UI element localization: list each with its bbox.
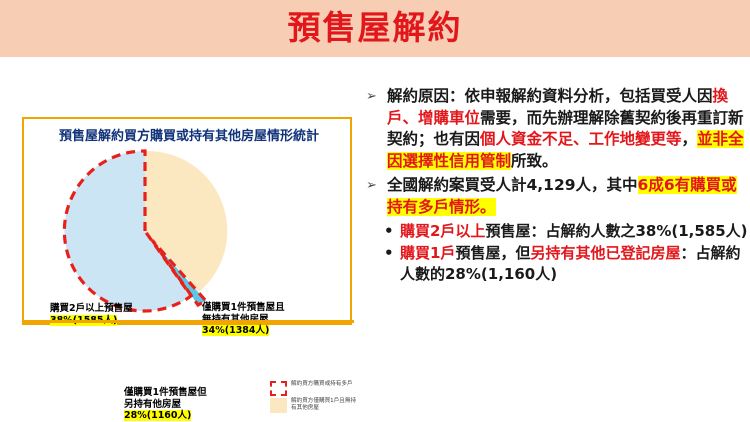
bullet-nationwide-text: 全國解約案買受人計4,129人，其中6成6有購買或持有多戶情形。	[387, 176, 737, 216]
sub-bullet-two-or-more: • 購買2戶以上預售屋：占解約人數之38%(1,585人)	[366, 221, 750, 242]
chart-panel: 預售屋解約買方購買或持有其他房屋情形統計 購買2戶以上預售屋	[22, 117, 352, 325]
red-dashed-swatch-icon	[270, 381, 287, 396]
text-run: 個人資金不足、工作地變更等	[480, 130, 682, 148]
bullet-arrow-icon: ➢	[366, 175, 377, 197]
text-run: 全國解約案買受人計4,129人，其中	[387, 176, 638, 194]
legend-item-single-label: 解約買方僅購買1戶且無持有其他房屋	[291, 398, 358, 412]
cream-swatch-icon	[270, 398, 287, 413]
sub-bullet-one-plus-other: • 購買1戶預售屋，但另持有其他已登記房屋：占解約人數的28%(1,160人)	[366, 243, 750, 285]
slide-root: 預售屋解約 預售屋解約買方購買或持有其他房屋情形統計	[0, 0, 750, 422]
bullet-arrow-icon: ➢	[366, 86, 377, 108]
pie-label-28-name-line1: 僅購買1件預售屋但	[124, 387, 207, 399]
text-run: 另持有其他已登記房屋	[530, 244, 680, 262]
bullet-reason: ➢ 解約原因：依申報解約資料分析，包括買受人因換戶、增購車位需要，而先辦理解除舊…	[366, 86, 750, 172]
text-run: 購買2戶以上	[400, 222, 485, 240]
bullet-reason-text: 解約原因：依申報解約資料分析，包括買受人因換戶、增購車位需要，而先辦理解除舊契約…	[387, 87, 744, 170]
pie-label-28: 僅購買1件預售屋但 另持有他房屋 28%(1160人)	[124, 387, 207, 422]
pie-label-28-value: 28%(1160人)	[124, 410, 191, 421]
text-run: 預售屋：占解約人數之38%(1,585人)	[485, 222, 747, 240]
pie-chart	[52, 145, 237, 323]
text-run: 購買1戶	[400, 244, 455, 262]
sub-bullet-two-or-more-text: 購買2戶以上預售屋：占解約人數之38%(1,585人)	[400, 222, 748, 240]
sub-bullet-one-plus-other-text: 購買1戶預售屋，但另持有其他已登記房屋：占解約人數的28%(1,160人)	[400, 244, 740, 283]
chart-title: 預售屋解約買方購買或持有其他房屋情形統計	[24, 125, 354, 144]
pie-svg	[52, 145, 237, 323]
text-run: ，	[682, 130, 698, 148]
pie-label-38-name: 購買2戶以上預售屋	[50, 303, 133, 315]
text-run: 預售屋，但	[455, 244, 530, 262]
page-title: 預售屋解約	[0, 7, 750, 49]
legend-item-multi: 解約買方購買或持有多戶	[270, 381, 358, 396]
chart-legend: 解約買方購買或持有多戶 解約買方僅購買1戶且無持有其他房屋	[270, 381, 358, 415]
panel-bottom-rule	[24, 320, 354, 323]
bullet-nationwide: ➢ 全國解約案買受人計4,129人，其中6成6有購買或持有多戶情形。	[366, 175, 750, 218]
sub-bullet-dot-icon: •	[384, 243, 394, 264]
pie-label-28-name-line2: 另持有他房屋	[124, 399, 207, 411]
pie-label-34-value: 34%(1384人)	[202, 325, 269, 336]
legend-item-multi-label: 解約買方購買或持有多戶	[291, 381, 353, 388]
sub-bullet-dot-icon: •	[384, 221, 394, 242]
text-run: 所致。	[511, 152, 558, 170]
content-column: ➢ 解約原因：依申報解約資料分析，包括買受人因換戶、增購車位需要，而先辦理解除舊…	[366, 86, 750, 285]
pie-label-34-name-line1: 僅購買1件預售屋且	[202, 302, 285, 314]
legend-item-single: 解約買方僅購買1戶且無持有其他房屋	[270, 398, 358, 413]
text-run: 解約原因：依申報解約資料分析，包括買受人因	[387, 87, 713, 105]
